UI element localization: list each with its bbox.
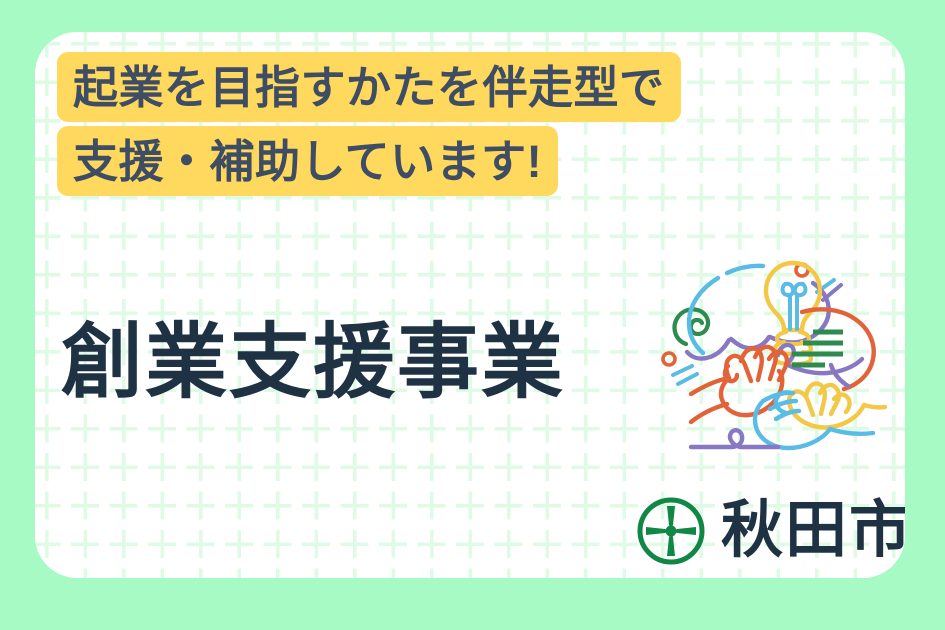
poster-canvas: 起業を目指すかたを伴走型で 支援・補助しています! 創業支援事業	[0, 0, 945, 630]
collaboration-idea-illustration	[645, 247, 895, 477]
white-card: 起業を目指すかたを伴走型で 支援・補助しています! 創業支援事業	[35, 32, 905, 578]
headline-line-1: 起業を目指すかたを伴走型で	[57, 52, 681, 122]
text-lines-green-icon	[792, 332, 843, 365]
circle-orange-small-icon	[663, 264, 808, 365]
headline-line-2: 支援・補助しています!	[57, 126, 558, 196]
page-title: 創業支援事業	[61, 322, 565, 404]
akita-city-logo: 秋田市	[635, 495, 905, 567]
headline-block: 起業を目指すかたを伴走型で 支援・補助しています!	[57, 52, 681, 196]
helping-hand-yellow-blue-icon	[755, 384, 885, 448]
akita-city-label: 秋田市	[721, 500, 905, 562]
akita-city-emblem-icon	[635, 495, 707, 567]
